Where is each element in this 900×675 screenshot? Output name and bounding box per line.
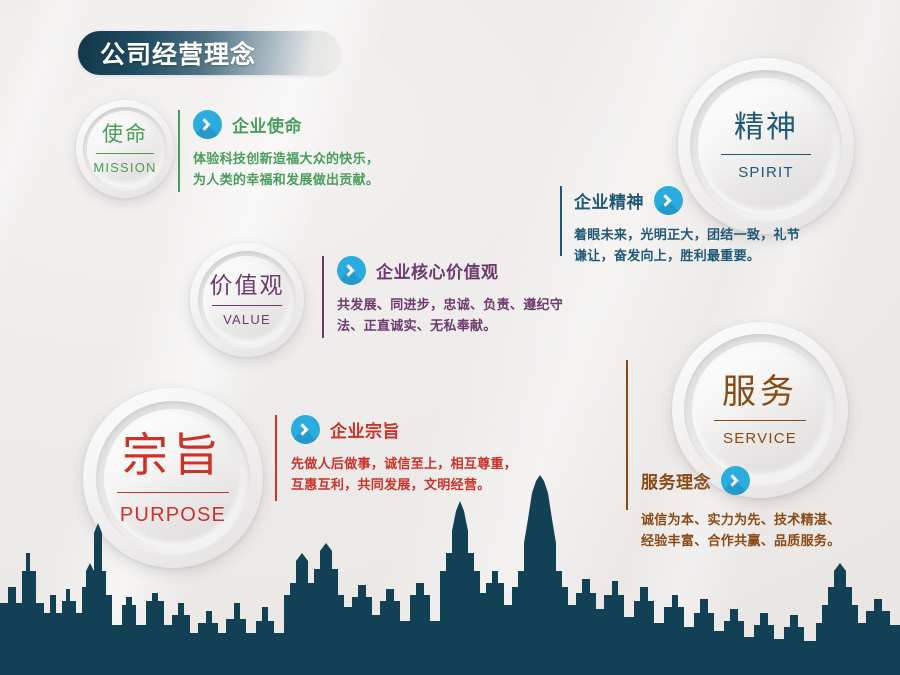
page-title-banner: 公司经营理念 — [78, 31, 340, 75]
section-body-line: 为人类的幸福和发展做出贡献。 — [193, 169, 428, 190]
medallion-label-cn: 精神 — [721, 113, 811, 143]
section-accent-rule — [178, 110, 180, 192]
section-heading: 企业精神 — [574, 188, 644, 213]
chevron-right-icon — [654, 186, 683, 215]
section-heading: 企业宗旨 — [330, 417, 400, 442]
section-body-line: 体验科技创新造福大众的快乐， — [193, 148, 428, 169]
medallion-label-en: PURPOSE — [117, 505, 229, 525]
section-accent-rule — [322, 256, 324, 338]
medallion-label-cn: 宗旨 — [117, 432, 229, 478]
medallion-divider — [96, 153, 154, 154]
section-body-line: 先做人后做事，诚信至上，相互尊重， — [291, 453, 555, 474]
medallion-divider — [714, 420, 806, 421]
medallion-divider — [721, 154, 811, 155]
section-heading: 企业核心价值观 — [376, 258, 499, 283]
medallion-label-cn: 使命 — [93, 124, 156, 145]
medallion-mission: 使命 MISSION — [76, 100, 174, 198]
section-body-line: 着眼未来，光明正大，团结一致，礼节 — [574, 224, 860, 245]
section-heading: 企业使命 — [232, 112, 302, 137]
section-body-line: 共发展、同进步，忠诚、负责、遵纪守 — [337, 294, 602, 315]
infographic-poster: 公司经营理念 使命 MISSION 企业使命 体验科技创 — [0, 0, 900, 675]
section-body-line: 法、正直诚实、无私奉献。 — [337, 315, 602, 336]
section-body: 着眼未来，光明正大，团结一致，礼节 谦让，奋发向上，胜利最重要。 — [574, 224, 860, 266]
medallion-label-cn: 价值观 — [210, 274, 285, 297]
page-title: 公司经营理念 — [100, 35, 256, 71]
medallion-divider — [212, 305, 282, 306]
chevron-right-icon — [337, 256, 366, 285]
medallion-divider — [117, 492, 229, 493]
section-mission: 企业使命 体验科技创新造福大众的快乐， 为人类的幸福和发展做出贡献。 — [178, 110, 428, 202]
section-body: 体验科技创新造福大众的快乐， 为人类的幸福和发展做出贡献。 — [193, 148, 428, 190]
medallion-label-en: SPIRIT — [721, 165, 811, 180]
section-heading-row: 企业宗旨 — [291, 415, 555, 444]
section-value: 企业核心价值观 共发展、同进步，忠诚、负责、遵纪守 法、正直诚实、无私奉献。 — [322, 256, 602, 348]
medallion-label-cn: 服务 — [714, 375, 806, 409]
chevron-right-icon — [193, 110, 222, 139]
section-heading-row: 企业使命 — [193, 110, 428, 139]
section-spirit: 企业精神 着眼未来，光明正大，团结一致，礼节 谦让，奋发向上，胜利最重要。 — [560, 186, 860, 266]
medallion-label-en: VALUE — [210, 313, 285, 326]
medallion-label-en: SERVICE — [714, 431, 806, 446]
section-accent-rule — [560, 186, 562, 256]
medallion-label-en: MISSION — [93, 161, 156, 174]
section-body: 共发展、同进步，忠诚、负责、遵纪守 法、正直诚实、无私奉献。 — [337, 294, 602, 336]
chevron-right-icon — [291, 415, 320, 444]
section-heading-row: 企业精神 — [574, 186, 860, 215]
medallion-value: 价值观 VALUE — [190, 243, 304, 357]
section-body-line: 谦让，奋发向上，胜利最重要。 — [574, 245, 860, 266]
